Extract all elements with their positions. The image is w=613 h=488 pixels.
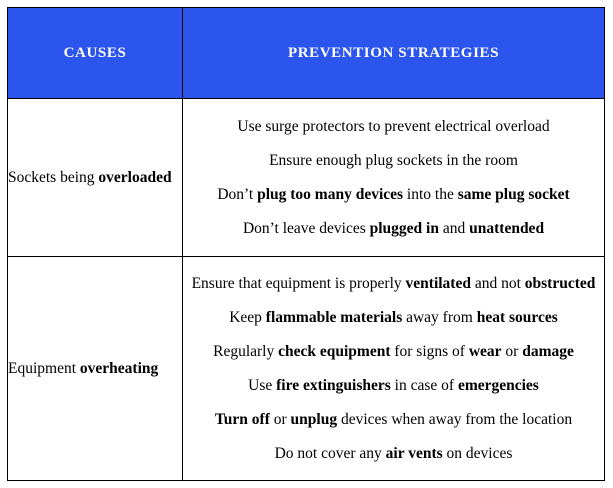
cause-label: Sockets being overloaded [8, 168, 182, 187]
header-row: CAUSES PREVENTION STRATEGIES [8, 8, 605, 99]
column-header-prevention-strategies-label: PREVENTION STRATEGIES [183, 44, 604, 62]
strategy-segment-emphasis: plug too many devices [257, 186, 403, 203]
cause-text-emphasis: overheating [80, 360, 158, 377]
table-row: Equipment overheating Ensure that equipm… [8, 257, 605, 481]
strategy-segment-emphasis: emergencies [458, 377, 539, 394]
cause-text-plain: Sockets being [8, 169, 98, 186]
strategy-segment: Don’t [217, 186, 257, 203]
strategy-segment-emphasis: unattended [469, 220, 544, 237]
strategy-segment: Use [248, 377, 276, 394]
strategy-segment-emphasis: check equipment [278, 343, 390, 360]
cause-text-emphasis: overloaded [98, 169, 171, 186]
strategy-segment: for signs of [390, 343, 468, 360]
strategy-segment-emphasis: heat sources [477, 309, 558, 326]
list-item: Keep flammable materials away from heat … [183, 301, 604, 335]
list-item: Use fire extinguishers in case of emerge… [183, 369, 604, 403]
strategy-segment: on devices [443, 445, 513, 462]
strategy-segment: away from [402, 309, 476, 326]
cause-cell-overloaded: Sockets being overloaded [8, 99, 183, 257]
strategy-segment: Ensure enough plug sockets in the room [269, 152, 518, 169]
strategy-segment-emphasis: flammable materials [266, 309, 402, 326]
list-item: Don’t plug too many devices into the sam… [183, 178, 604, 212]
prevention-cell-overheating: Ensure that equipment is properly ventil… [183, 257, 605, 481]
cause-cell-overheating: Equipment overheating [8, 257, 183, 481]
strategy-segment-emphasis: fire extinguishers [276, 377, 391, 394]
strategy-segment: and not [471, 275, 525, 292]
strategy-segment-emphasis: plugged in [370, 220, 439, 237]
strategy-segment-emphasis: wear [469, 343, 502, 360]
strategy-segment: or [502, 343, 523, 360]
list-item: Turn off or unplug devices when away fro… [183, 403, 604, 437]
list-item: Ensure enough plug sockets in the room [183, 144, 604, 178]
list-item: Use surge protectors to prevent electric… [183, 110, 604, 144]
cause-text-plain: Equipment [8, 360, 80, 377]
strategy-segment: or [270, 411, 291, 428]
strategy-segment: into the [403, 186, 458, 203]
strategy-segment: in case of [391, 377, 458, 394]
column-header-causes-label: CAUSES [8, 44, 182, 62]
strategy-segment: Keep [229, 309, 266, 326]
electrical-safety-table: CAUSES PREVENTION STRATEGIES Sockets bei… [7, 7, 605, 481]
strategy-segment-emphasis: air vents [386, 445, 443, 462]
strategy-list: Ensure that equipment is properly ventil… [183, 267, 604, 471]
list-item: Do not cover any air vents on devices [183, 437, 604, 471]
strategy-segment-emphasis: same plug socket [458, 186, 570, 203]
column-header-causes: CAUSES [8, 8, 183, 99]
column-header-prevention-strategies: PREVENTION STRATEGIES [183, 8, 605, 99]
table-body: Sockets being overloaded Use surge prote… [8, 99, 605, 481]
strategy-segment-emphasis: ventilated [406, 275, 471, 292]
document-canvas: CAUSES PREVENTION STRATEGIES Sockets bei… [0, 0, 613, 488]
list-item: Ensure that equipment is properly ventil… [183, 267, 604, 301]
strategy-segment: Regularly [213, 343, 278, 360]
list-item: Regularly check equipment for signs of w… [183, 335, 604, 369]
cause-label: Equipment overheating [8, 359, 182, 378]
strategy-segment: Do not cover any [275, 445, 386, 462]
strategy-segment-emphasis: Turn off [215, 411, 270, 428]
strategy-segment-emphasis: unplug [291, 411, 338, 428]
strategy-segment: Don’t leave devices [243, 220, 370, 237]
strategy-segment: Ensure that equipment is properly [192, 275, 406, 292]
strategy-segment-emphasis: damage [522, 343, 574, 360]
strategy-segment: and [439, 220, 469, 237]
table-header: CAUSES PREVENTION STRATEGIES [8, 8, 605, 99]
table-row: Sockets being overloaded Use surge prote… [8, 99, 605, 257]
strategy-segment-emphasis: obstructed [525, 275, 596, 292]
strategy-segment: Use surge protectors to prevent electric… [237, 118, 549, 135]
strategy-list: Use surge protectors to prevent electric… [183, 110, 604, 246]
prevention-cell-overloaded: Use surge protectors to prevent electric… [183, 99, 605, 257]
strategy-segment: devices when away from the location [337, 411, 572, 428]
list-item: Don’t leave devices plugged in and unatt… [183, 212, 604, 246]
